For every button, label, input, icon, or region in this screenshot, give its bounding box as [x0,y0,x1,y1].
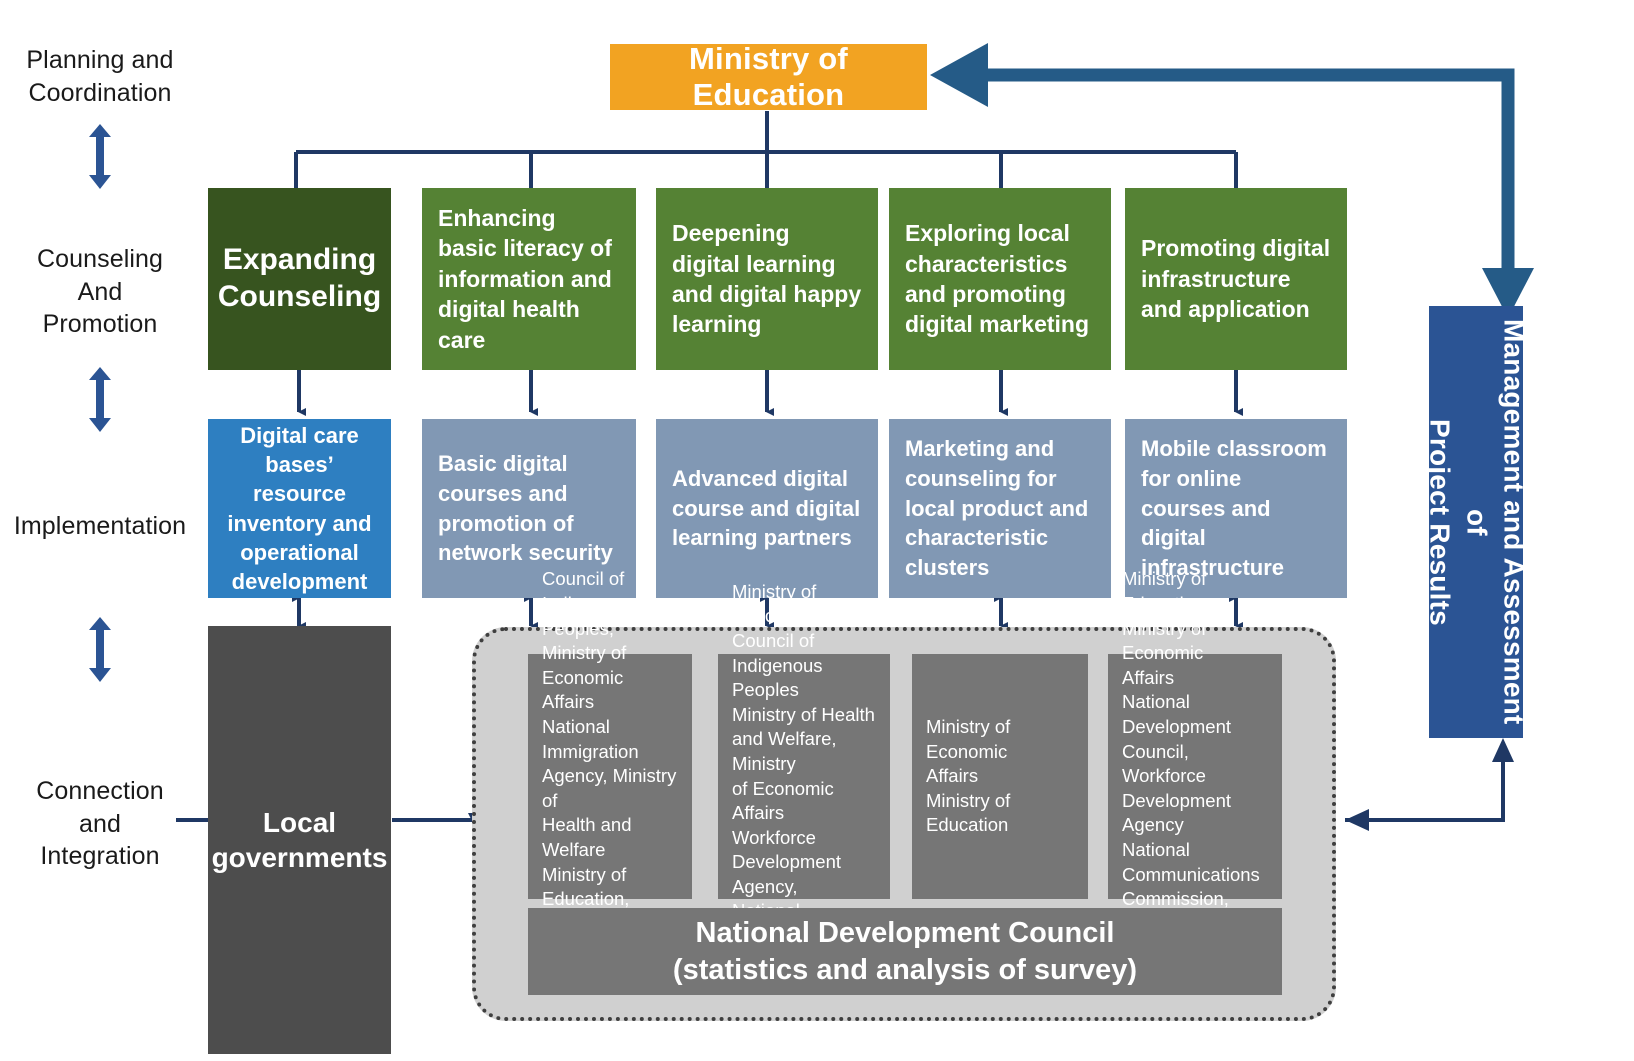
strategy-label-expanding-counseling: Expanding Counseling [216,242,383,315]
strategy-label-deepening-digital-learning: Deepening digital learning and digital h… [672,218,862,339]
ministry-of-education-box[interactable]: Ministry of Education [610,44,927,110]
implementation-box-digital-care-bases[interactable]: Digital care bases’ resource inventory a… [208,419,391,598]
implementation-label-marketing-counseling-local: Marketing and counseling for local produ… [905,434,1095,582]
stage-label-planning-coordination: Planning and Coordination [10,44,190,109]
diagram-canvas: Planning and Coordination Counseling And… [0,0,1634,1061]
strategy-label-exploring-local-characteristics: Exploring local characteristics and prom… [905,218,1095,339]
national-development-council-box[interactable]: National Development Council (statistics… [528,908,1282,995]
stage-label-counseling-promotion: Counseling And Promotion [10,243,190,341]
implementation-label-digital-care-bases: Digital care bases’ resource inventory a… [220,421,379,597]
hierarchy-connectors [296,111,1236,188]
strategy-label-promoting-digital-infrastructure: Promoting digital infrastructure and app… [1141,233,1331,324]
agency-group-2-box[interactable]: Ministry of Education, Council of Indige… [718,654,890,899]
implementation-box-advanced-digital-course[interactable]: Advanced digital course and digital lear… [656,419,878,598]
implementation-label-advanced-digital-course: Advanced digital course and digital lear… [672,464,862,553]
ministry-of-education-label: Ministry of Education [610,41,927,113]
local-governments-label: Local governments [208,805,391,875]
agency-group-1-box[interactable]: Council of Indigenous Peoples, Ministry … [528,654,692,899]
stage-label-connection-integration: Connection and Integration [10,775,190,873]
strategy-box-expanding-counseling[interactable]: Expanding Counseling [208,188,391,370]
local-governments-box[interactable]: Local governments [208,626,391,1054]
strategy-box-exploring-local-characteristics[interactable]: Exploring local characteristics and prom… [889,188,1111,370]
strategy-box-enhancing-basic-literacy[interactable]: Enhancing basic literacy of information … [422,188,636,370]
agency-group-4-box[interactable]: Ministry of Education, Ministry of Econo… [1108,654,1282,899]
strategy-box-promoting-digital-infrastructure[interactable]: Promoting digital infrastructure and app… [1125,188,1347,370]
implementation-box-marketing-counseling-local[interactable]: Marketing and counseling for local produ… [889,419,1111,598]
strategy-box-deepening-digital-learning[interactable]: Deepening digital learning and digital h… [656,188,878,370]
partners-to-assessment-arrow [1345,738,1514,831]
stage-progress-arrows [89,124,111,682]
management-assessment-label: Management and Assessment of Project Res… [1421,306,1532,738]
management-assessment-panel[interactable]: Management and Assessment of Project Res… [1429,306,1523,738]
stage-label-implementation: Implementation [0,510,200,543]
implementation-label-basic-digital-courses: Basic digital courses and promotion of n… [438,449,620,568]
strategy-to-implementation-arrows [299,370,1236,412]
strategy-label-enhancing-basic-literacy: Enhancing basic literacy of information … [438,203,620,355]
agency-group-3-box[interactable]: Ministry of Economic Affairs Ministry of… [912,654,1088,899]
implementation-label-mobile-classroom: Mobile classroom for online courses and … [1141,434,1331,582]
